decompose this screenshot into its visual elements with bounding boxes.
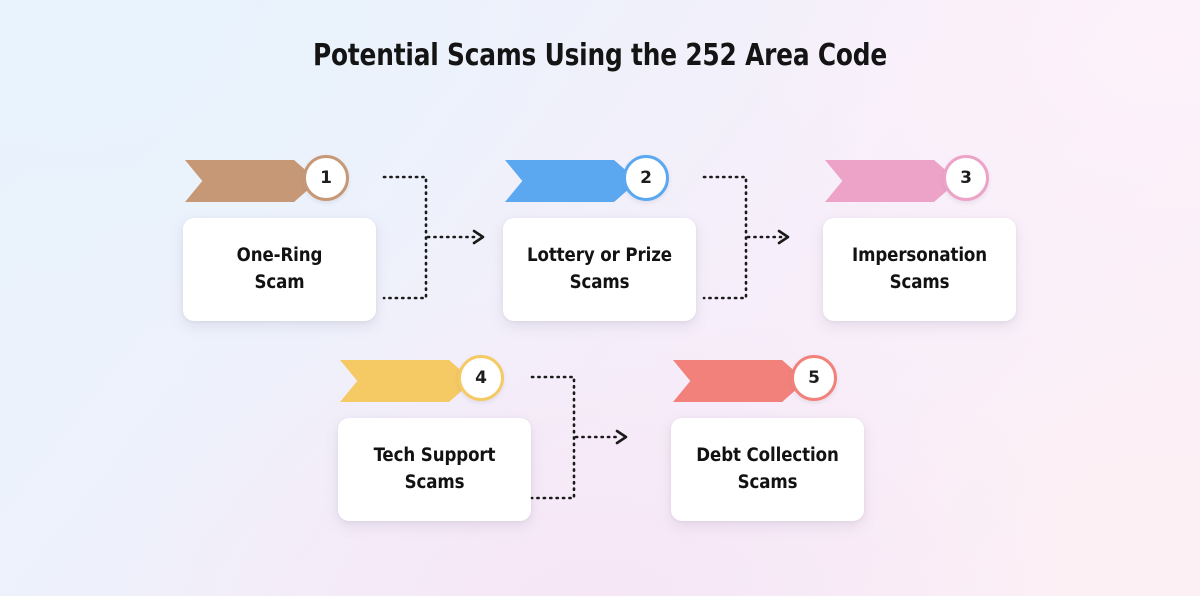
step-label-line-2a: Lottery or Prize (527, 245, 672, 266)
step-number-3: 3 (960, 168, 972, 188)
connector-4-to-5-arrowhead (617, 431, 626, 443)
connector-2-to-3-arrowhead (779, 231, 788, 243)
step-card-4[interactable]: Tech Support Scams (338, 418, 531, 521)
step-badge-5: 5 (791, 355, 837, 401)
chevron-ribbon-2 (505, 160, 638, 202)
page-title: Potential Scams Using the 252 Area Code (48, 38, 1152, 73)
step-label-line-1a: One-Ring (237, 245, 323, 266)
step-card-2[interactable]: Lottery or Prize Scams (503, 218, 696, 321)
step-card-3[interactable]: Impersonation Scams (823, 218, 1016, 321)
step-card-label-2: Lottery or Prize Scams (527, 243, 672, 296)
step-number-4: 4 (475, 368, 487, 388)
connector-1-to-2-arrowhead (474, 231, 483, 243)
step-node-4[interactable]: 4 Tech Support Scams (338, 355, 588, 525)
step-node-2[interactable]: 2 Lottery or Prize Scams (503, 155, 753, 325)
step-card-5[interactable]: Debt Collection Scams (671, 418, 864, 521)
ribbon-row-3: 3 (823, 155, 1073, 207)
step-number-2: 2 (640, 168, 652, 188)
step-label-line-4b: Scams (405, 472, 465, 493)
step-card-label-3: Impersonation Scams (852, 243, 987, 296)
step-card-label-5: Debt Collection Scams (696, 443, 838, 496)
step-card-label-4: Tech Support Scams (374, 443, 496, 496)
chevron-ribbon-5 (673, 360, 806, 402)
infographic-canvas: Potential Scams Using the 252 Area Code … (0, 0, 1200, 596)
step-badge-2: 2 (623, 155, 669, 201)
step-node-1[interactable]: 1 One-Ring Scam (183, 155, 433, 325)
ribbon-row-2: 2 (503, 155, 753, 207)
chevron-ribbon-3 (825, 160, 958, 202)
step-badge-4: 4 (458, 355, 504, 401)
step-node-3[interactable]: 3 Impersonation Scams (823, 155, 1073, 325)
ribbon-row-4: 4 (338, 355, 588, 407)
ribbon-row-1: 1 (183, 155, 433, 207)
step-card-1[interactable]: One-Ring Scam (183, 218, 376, 321)
step-card-label-1: One-Ring Scam (237, 243, 323, 296)
step-label-line-5b: Scams (738, 472, 798, 493)
step-badge-1: 1 (303, 155, 349, 201)
ribbon-row-5: 5 (671, 355, 921, 407)
step-label-line-4a: Tech Support (374, 445, 496, 466)
step-label-line-3a: Impersonation (852, 245, 987, 266)
step-node-5[interactable]: 5 Debt Collection Scams (671, 355, 921, 525)
chevron-ribbon-4 (340, 360, 473, 402)
step-label-line-5a: Debt Collection (696, 445, 838, 466)
step-number-1: 1 (320, 168, 332, 188)
step-label-line-2b: Scams (570, 272, 630, 293)
step-label-line-3b: Scams (890, 272, 950, 293)
chevron-ribbon-1 (185, 160, 318, 202)
step-badge-3: 3 (943, 155, 989, 201)
step-label-line-1b: Scam (254, 272, 304, 293)
step-number-5: 5 (808, 368, 820, 388)
